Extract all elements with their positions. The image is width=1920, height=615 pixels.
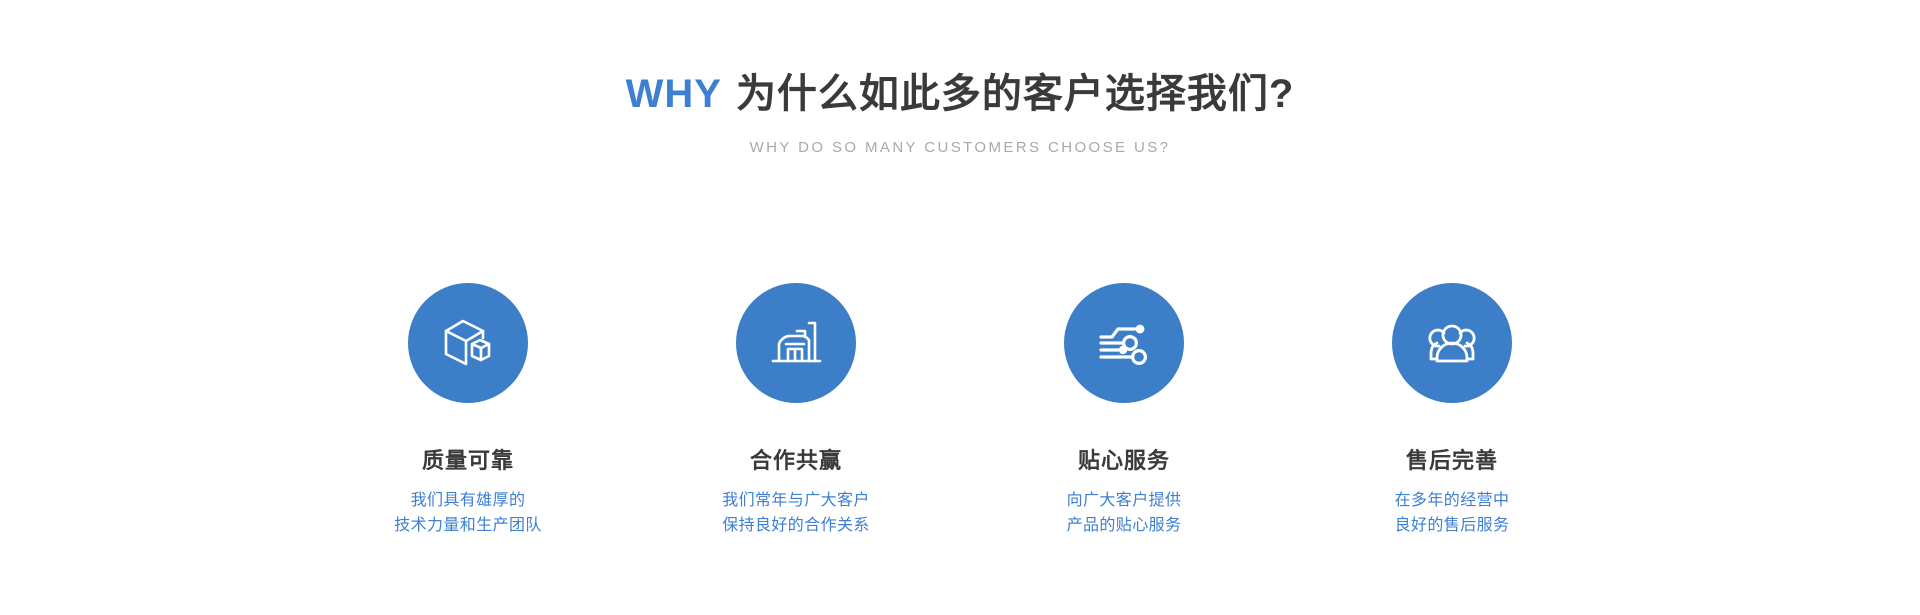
feature-description: 向广大客户提供 产品的贴心服务 — [1067, 488, 1182, 538]
feature-title: 质量可靠 — [422, 448, 514, 474]
feature-item-after-sales: 售后完善 在多年的经营中 良好的售后服务 — [1288, 283, 1616, 538]
feature-item-quality: 质量可靠 我们具有雄厚的 技术力量和生产团队 — [304, 283, 632, 538]
feature-description-line: 我们常年与广大客户 — [722, 488, 870, 513]
feature-description-line: 我们具有雄厚的 — [394, 488, 542, 513]
feature-description-line: 技术力量和生产团队 — [394, 513, 542, 538]
headline-chinese-title: 为什么如此多的客户选择我们? — [736, 72, 1294, 116]
feature-description-line: 产品的贴心服务 — [1067, 513, 1182, 538]
circuit-nodes-icon — [1092, 311, 1156, 375]
people-group-icon — [1420, 311, 1484, 375]
feature-icon-circle — [1064, 283, 1184, 403]
feature-item-cooperation: 合作共赢 我们常年与广大客户 保持良好的合作关系 — [632, 283, 960, 538]
feature-icon-circle — [1392, 283, 1512, 403]
headline-why-word: WHY — [626, 72, 722, 116]
feature-item-service: 贴心服务 向广大客户提供 产品的贴心服务 — [960, 283, 1288, 538]
feature-description: 在多年的经营中 良好的售后服务 — [1395, 488, 1510, 538]
feature-description: 我们具有雄厚的 技术力量和生产团队 — [394, 488, 542, 538]
why-choose-us-section: WHY为什么如此多的客户选择我们? WHY DO SO MANY CUSTOME… — [0, 0, 1920, 615]
feature-title: 贴心服务 — [1078, 448, 1170, 474]
feature-description-line: 保持良好的合作关系 — [722, 513, 870, 538]
feature-list: 质量可靠 我们具有雄厚的 技术力量和生产团队 — [0, 283, 1920, 538]
feature-icon-circle — [408, 283, 528, 403]
feature-description-line: 良好的售后服务 — [1395, 513, 1510, 538]
package-box-icon — [436, 311, 500, 375]
feature-title: 合作共赢 — [750, 448, 842, 474]
section-header: WHY为什么如此多的客户选择我们? WHY DO SO MANY CUSTOME… — [0, 0, 1920, 156]
feature-icon-circle — [736, 283, 856, 403]
page-subtitle: WHY DO SO MANY CUSTOMERS CHOOSE US? — [0, 139, 1920, 156]
factory-icon — [764, 311, 828, 375]
feature-description-line: 在多年的经营中 — [1395, 488, 1510, 513]
feature-description-line: 向广大客户提供 — [1067, 488, 1182, 513]
page-title: WHY为什么如此多的客户选择我们? — [0, 70, 1920, 118]
feature-description: 我们常年与广大客户 保持良好的合作关系 — [722, 488, 870, 538]
feature-title: 售后完善 — [1406, 448, 1498, 474]
